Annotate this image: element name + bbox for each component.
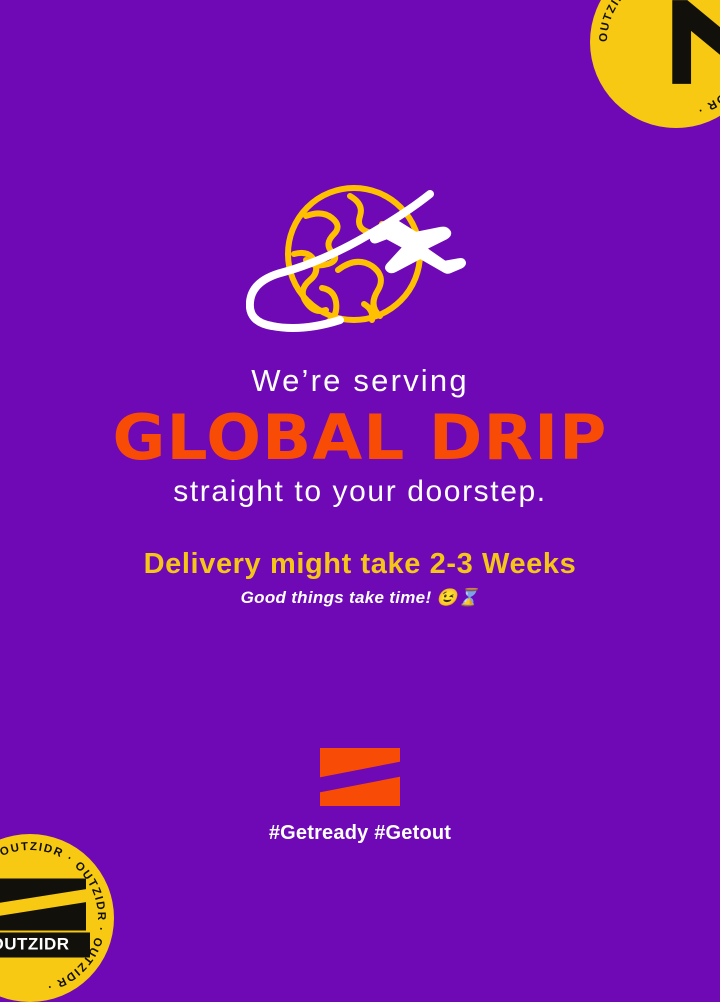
- badge-lockup-bottom-left: OUTZIDR: [0, 879, 90, 958]
- globe-airplane-svg: [246, 176, 474, 344]
- tagline-text: Good things take time! 😉⌛: [0, 588, 720, 608]
- badge-z-mark-top-right: Z: [652, 0, 720, 90]
- globe-with-airplane-icon: [0, 176, 720, 344]
- kicker-text: We’re serving: [0, 364, 720, 398]
- badge-top-right: OUTZIDR · OUTZIDR · OUTZIDR · OUTZIDR · …: [590, 0, 720, 128]
- subline-text: straight to your doorstep.: [0, 475, 720, 508]
- badge-wordmark-bottom-left: OUTZIDR: [0, 933, 90, 958]
- badge-z-mark-bottom-left: [0, 879, 86, 931]
- delivery-notice-text: Delivery might take 2-3 Weeks: [0, 548, 720, 581]
- headline-text: GLOBAL DRIP: [0, 406, 720, 469]
- badge-bottom-left: OUTZIDR · OUTZIDR · OUTZIDR · OUTZIDR · …: [0, 834, 114, 1002]
- footer-brand-block: #Getready #Getout: [0, 748, 720, 845]
- main-copy-block: We’re serving GLOBAL DRIP straight to yo…: [0, 364, 720, 508]
- hashtags-text: #Getready #Getout: [269, 822, 451, 845]
- brand-z-logo-icon: [320, 748, 400, 806]
